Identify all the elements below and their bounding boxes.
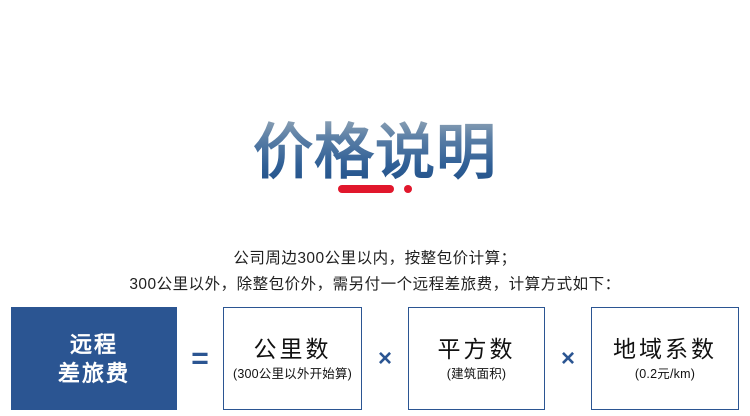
multiply-operator-2: × xyxy=(545,307,591,410)
term-title-square-meters: 平方数 xyxy=(438,334,516,364)
formula-term-square-meters: 平方数 (建筑面积) xyxy=(408,307,545,410)
ornament-bar xyxy=(338,185,394,193)
term-sub-region-coefficient: (0.2元/km) xyxy=(635,365,695,383)
page-title: 价格说明 xyxy=(0,118,750,188)
term-sub-kilometers: (300公里以外开始算) xyxy=(233,365,352,383)
multiply-operator-1: × xyxy=(362,307,408,410)
formula-term-kilometers: 公里数 (300公里以外开始算) xyxy=(223,307,362,410)
formula-result-box: 远程 差旅费 xyxy=(11,307,177,410)
term-sub-square-meters: (建筑面积) xyxy=(447,365,507,383)
term-title-kilometers: 公里数 xyxy=(254,334,332,364)
ornament-dot xyxy=(404,185,412,193)
formula-term-region-coefficient: 地域系数 (0.2元/km) xyxy=(591,307,739,410)
term-title-region-coefficient: 地域系数 xyxy=(613,334,717,364)
description-line-1: 公司周边300公里以内，按整包价计算； xyxy=(0,246,750,272)
description-line-2: 300公里以外，除整包价外，需另付一个远程差旅费，计算方式如下： xyxy=(0,272,750,298)
formula-result-line-1: 远程 xyxy=(70,330,118,359)
pricing-formula: 远程 差旅费 = 公里数 (300公里以外开始算) × 平方数 (建筑面积) ×… xyxy=(11,307,739,410)
equals-operator: = xyxy=(177,307,223,410)
formula-result-line-2: 差旅费 xyxy=(58,359,130,388)
title-ornament xyxy=(0,182,750,196)
